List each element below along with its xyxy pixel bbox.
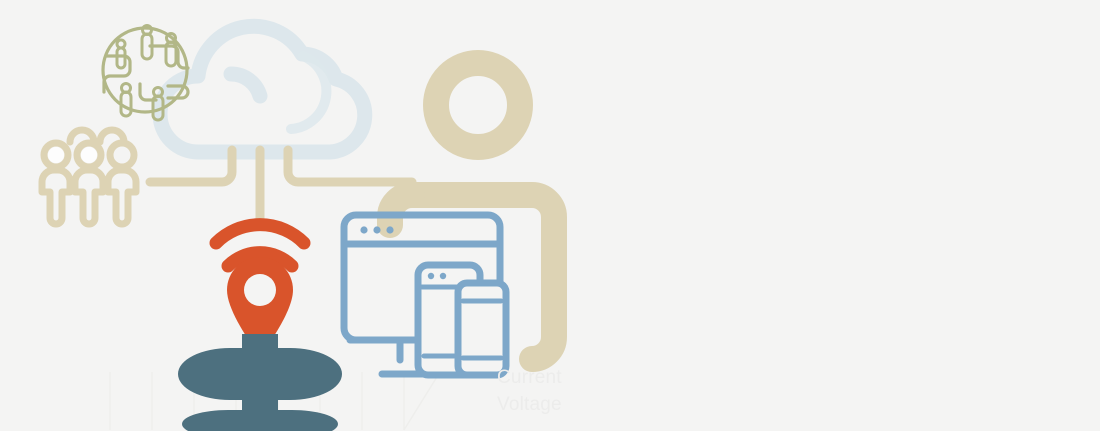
transformer-icon: [178, 334, 342, 431]
cloud-icon: [160, 26, 365, 152]
remote-monitoring-banner: Current Voltage Remote monitoring provid…: [0, 0, 1100, 431]
watermark-voltage: Voltage: [497, 394, 562, 416]
watermark-current: Current: [497, 367, 562, 389]
globe-people-icon: [103, 26, 188, 121]
content-panel: Remote monitoring provides: Automatic ou…: [600, 0, 1100, 431]
illustration-panel: Current Voltage: [0, 0, 600, 431]
phone-icon: [458, 283, 506, 375]
people-group-highlight: [48, 147, 97, 163]
people-group-icon: [42, 130, 136, 224]
connector-lines: [150, 150, 412, 222]
monitor-dots: [360, 226, 393, 233]
